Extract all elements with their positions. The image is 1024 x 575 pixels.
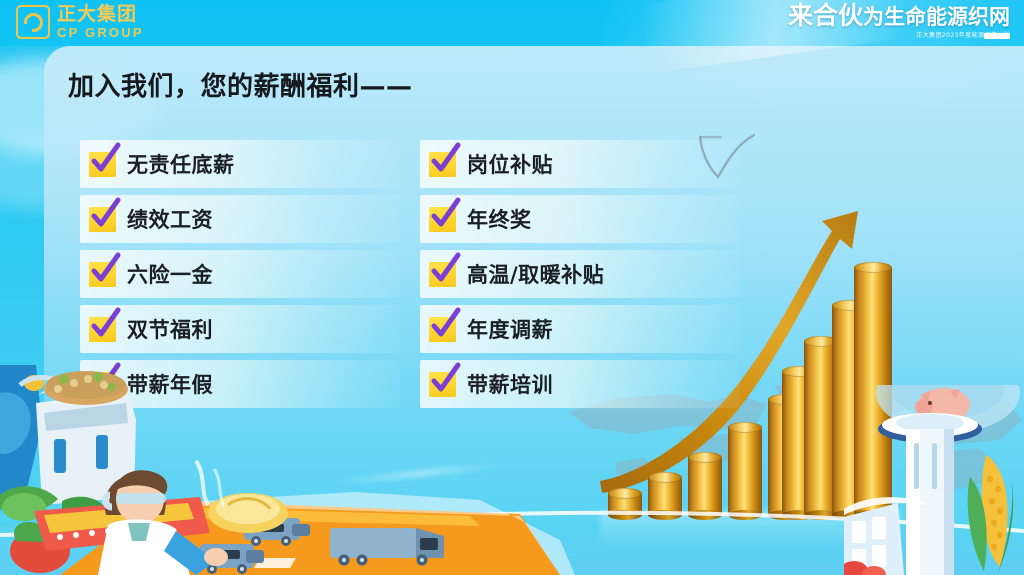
benefit-row[interactable]: 双节福利 [80, 305, 400, 353]
check-mark-icon [429, 317, 456, 342]
benefit-label: 带薪培训 [467, 369, 553, 399]
benefit-label: 岗位补贴 [467, 149, 553, 179]
cp-group-mark-icon [16, 5, 50, 39]
benefit-row[interactable]: 绩效工资 [80, 195, 400, 243]
benefit-label: 年度调薪 [467, 314, 553, 344]
benefit-label: 六险一金 [127, 259, 213, 289]
slogan-part-2: 为生命能源织网 [863, 5, 1010, 29]
benefit-label: 年终奖 [467, 204, 532, 234]
check-swoosh-decoration [692, 133, 758, 185]
benefit-label: 绩效工资 [127, 204, 213, 234]
brand-name-en: CP GROUP [57, 26, 144, 39]
chart-bar [728, 427, 762, 515]
benefit-row[interactable]: 年终奖 [420, 195, 740, 243]
slogan-sub: 正大集团2023年度能源招募计划 [788, 30, 1010, 39]
benefit-row[interactable]: 无责任底薪 [80, 140, 400, 188]
benefit-label: 高温/取暖补贴 [467, 259, 604, 289]
benefit-row[interactable]: 年度调薪 [420, 305, 740, 353]
check-mark-icon [89, 207, 116, 232]
brand-name-cn: 正大集团 [57, 5, 144, 24]
benefit-row[interactable]: 带薪培训 [420, 360, 740, 408]
brand-logo: 正大集团 CP GROUP [16, 5, 144, 39]
check-mark-icon [89, 317, 116, 342]
check-mark-icon [429, 207, 456, 232]
check-mark-icon [89, 262, 116, 287]
benefit-label: 双节福利 [127, 314, 213, 344]
page-title: 加入我们，您的薪酬福利—— [68, 66, 413, 103]
scientist-lab-illustration [0, 365, 320, 575]
check-mark-icon [429, 372, 456, 397]
slogan-main: 来合伙为生命能源织网 [788, 3, 1010, 29]
tower-pig-corn-illustration [844, 385, 1024, 575]
check-mark-icon [429, 152, 456, 177]
slide-root: 正大集团 CP GROUP 来合伙为生命能源织网 正大集团2023年度能源招募计… [0, 0, 1024, 575]
benefit-row[interactable]: 高温/取暖补贴 [420, 250, 740, 298]
check-mark-icon [429, 262, 456, 287]
chart-bar [688, 457, 722, 515]
check-mark-icon [89, 152, 116, 177]
slogan-part-1: 来合伙 [788, 1, 863, 30]
benefit-label: 无责任底薪 [127, 149, 235, 179]
slogan-block: 来合伙为生命能源织网 正大集团2023年度能源招募计划 [788, 3, 1010, 39]
benefit-row[interactable]: 六险一金 [80, 250, 400, 298]
